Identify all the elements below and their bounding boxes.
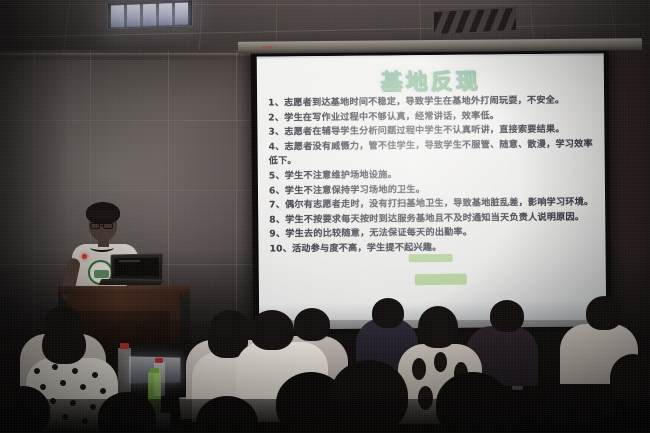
housing-label: 投影幕 (262, 44, 272, 49)
audience-head (294, 308, 330, 341)
slide-line: 4、志愿者没有威慑力，管不住学生，导致学生不服管、随意、散漫，学习效率低下。 (269, 137, 598, 169)
water-bottle (118, 348, 131, 394)
photo-scene: 投影幕 基地反现 1、志愿者到达基地时间不稳定，导致学生在基地外打闹玩耍，不安全… (0, 0, 650, 433)
glasses-icon (90, 223, 100, 229)
audience-head (418, 306, 458, 348)
audience-head (490, 300, 524, 332)
audience-head (610, 354, 650, 402)
projected-slide: 基地反现 1、志愿者到达基地时间不稳定，导致学生在基地外打闹玩耍，不安全。 2、… (257, 53, 607, 329)
projector-screen: 基地反现 1、志愿者到达基地时间不稳定，导致学生在基地外打闹玩耍，不安全。 2、… (251, 48, 612, 334)
audience-head (586, 296, 622, 330)
highlight-mark (409, 254, 453, 262)
seated-audience (0, 300, 650, 433)
audience-head (42, 324, 86, 364)
bottle-cap (150, 368, 159, 373)
slide-body-list: 1、志愿者到达基地时间不稳定，导致学生在基地外打闹玩耍，不安全。 2、学生在写作… (268, 93, 599, 257)
slide-title: 基地反现 (257, 62, 604, 97)
shirt-badge (82, 254, 87, 259)
bottle-cap (120, 343, 129, 349)
glasses-icon (103, 223, 113, 229)
presenter-laptop (100, 254, 162, 288)
highlight-mark (415, 274, 467, 285)
audience-head (250, 310, 294, 350)
bottle-cap (155, 358, 163, 363)
audience-head (372, 298, 404, 328)
